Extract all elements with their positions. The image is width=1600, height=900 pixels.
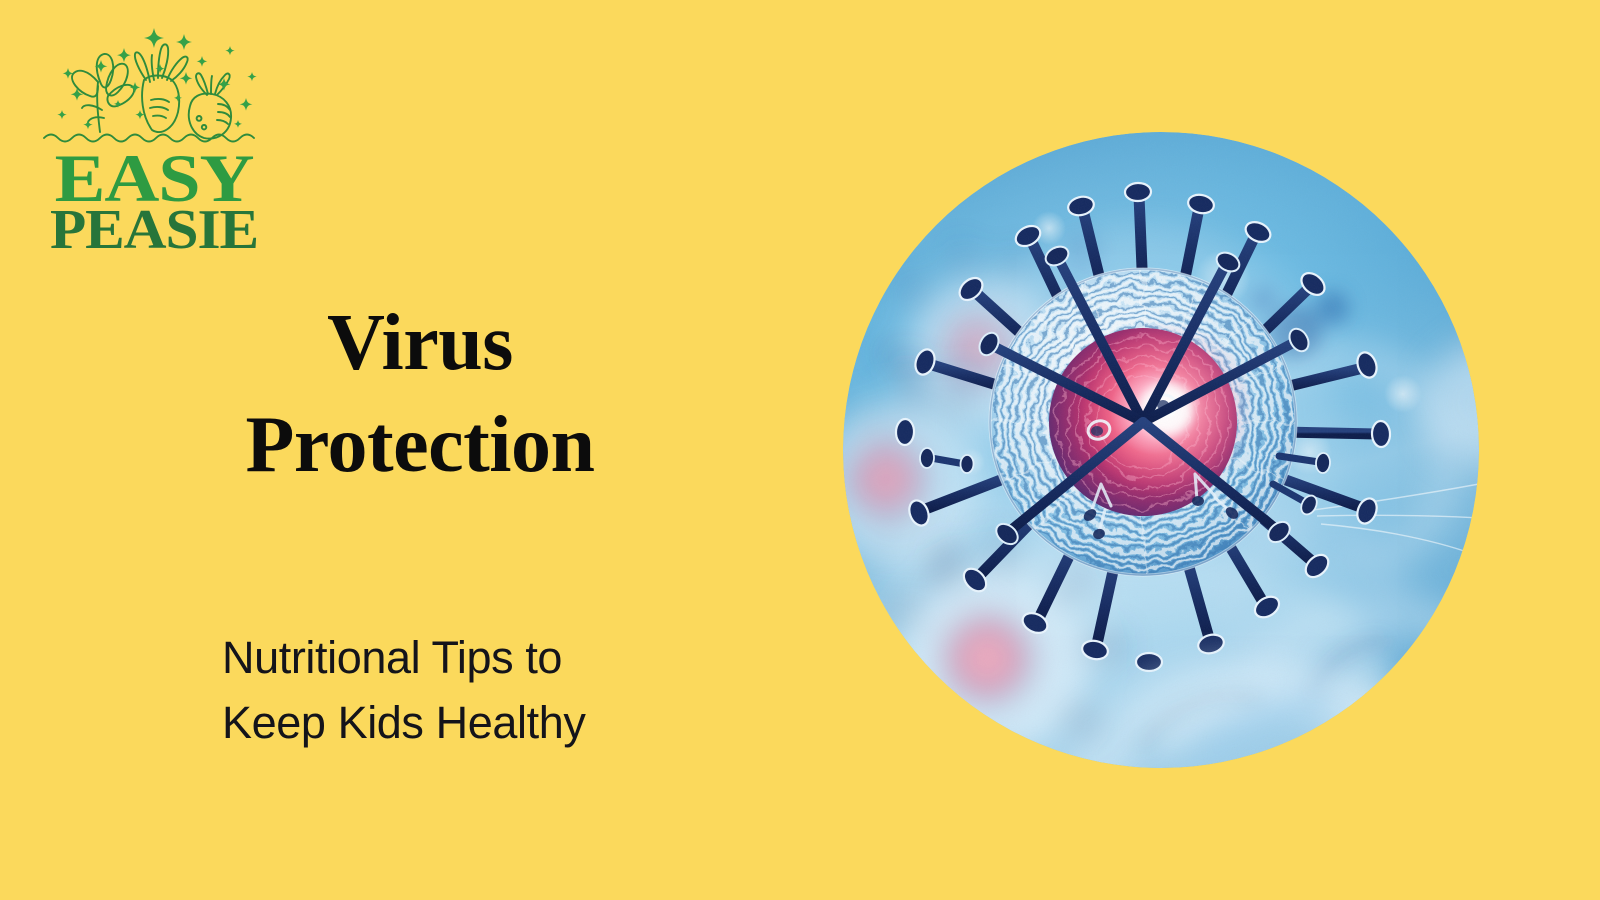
brand-logo[interactable]: EASY PEASIE [38,24,270,256]
virus-image [843,132,1479,768]
page-subtitle-line-1: Nutritional Tips to [222,626,692,691]
page-title-line-1: Virus [150,292,690,394]
virus-illustration [843,132,1479,768]
page-subtitle-line-2: Keep Kids Healthy [222,691,692,756]
page-title-line-2: Protection [150,394,690,496]
page-subtitle: Nutritional Tips to Keep Kids Healthy [222,626,692,756]
logo-wordmark-peasie: PEASIE [31,202,277,258]
slide-canvas: EASY PEASIE Virus Protection Nutritional… [0,0,1600,900]
vegetables-sparkles-icon [38,24,270,146]
page-title: Virus Protection [150,292,690,497]
